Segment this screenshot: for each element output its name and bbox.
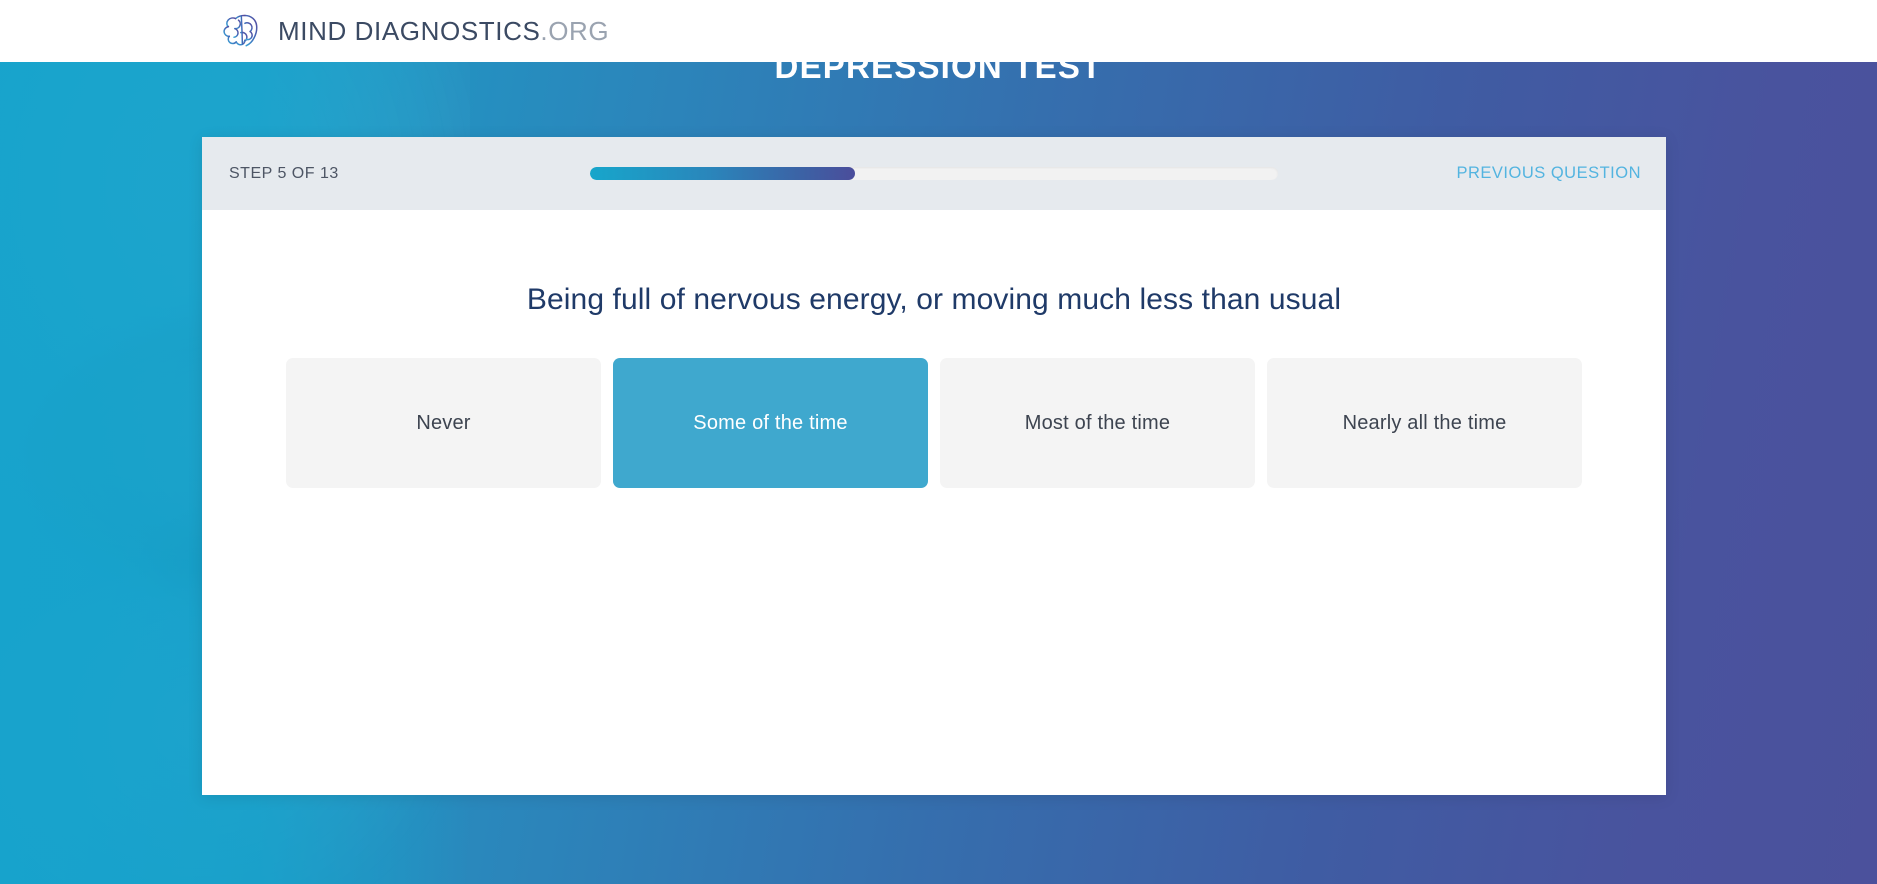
question-text: Being full of nervous energy, or moving … [202,283,1666,317]
quiz-card-header: STEP 5 OF 13 PREVIOUS QUESTION [202,137,1666,210]
brand-logo-link[interactable]: MIND DIAGNOSTICS.ORG [218,11,609,51]
quiz-card: STEP 5 OF 13 PREVIOUS QUESTION Being ful… [202,137,1666,795]
brand-name-text: MIND DIAGNOSTICS [278,16,540,46]
previous-question-link[interactable]: PREVIOUS QUESTION [1456,164,1641,183]
brand-tld-text: .ORG [540,16,609,46]
brand-wordmark: MIND DIAGNOSTICS.ORG [278,16,609,47]
answer-option-3[interactable]: Nearly all the time [1267,358,1582,488]
answer-option-2[interactable]: Most of the time [940,358,1255,488]
answer-option-1[interactable]: Some of the time [613,358,928,488]
answer-option-0[interactable]: Never [286,358,601,488]
progress-bar-fill [590,167,855,180]
step-counter-label: STEP 5 OF 13 [229,165,339,183]
quiz-card-body: Being full of nervous energy, or moving … [202,210,1666,795]
answer-options-group: Never Some of the time Most of the time … [286,358,1582,488]
brain-outline-icon [218,11,264,51]
progress-bar-track [590,167,1278,180]
top-navbar: MIND DIAGNOSTICS.ORG [0,0,1877,62]
